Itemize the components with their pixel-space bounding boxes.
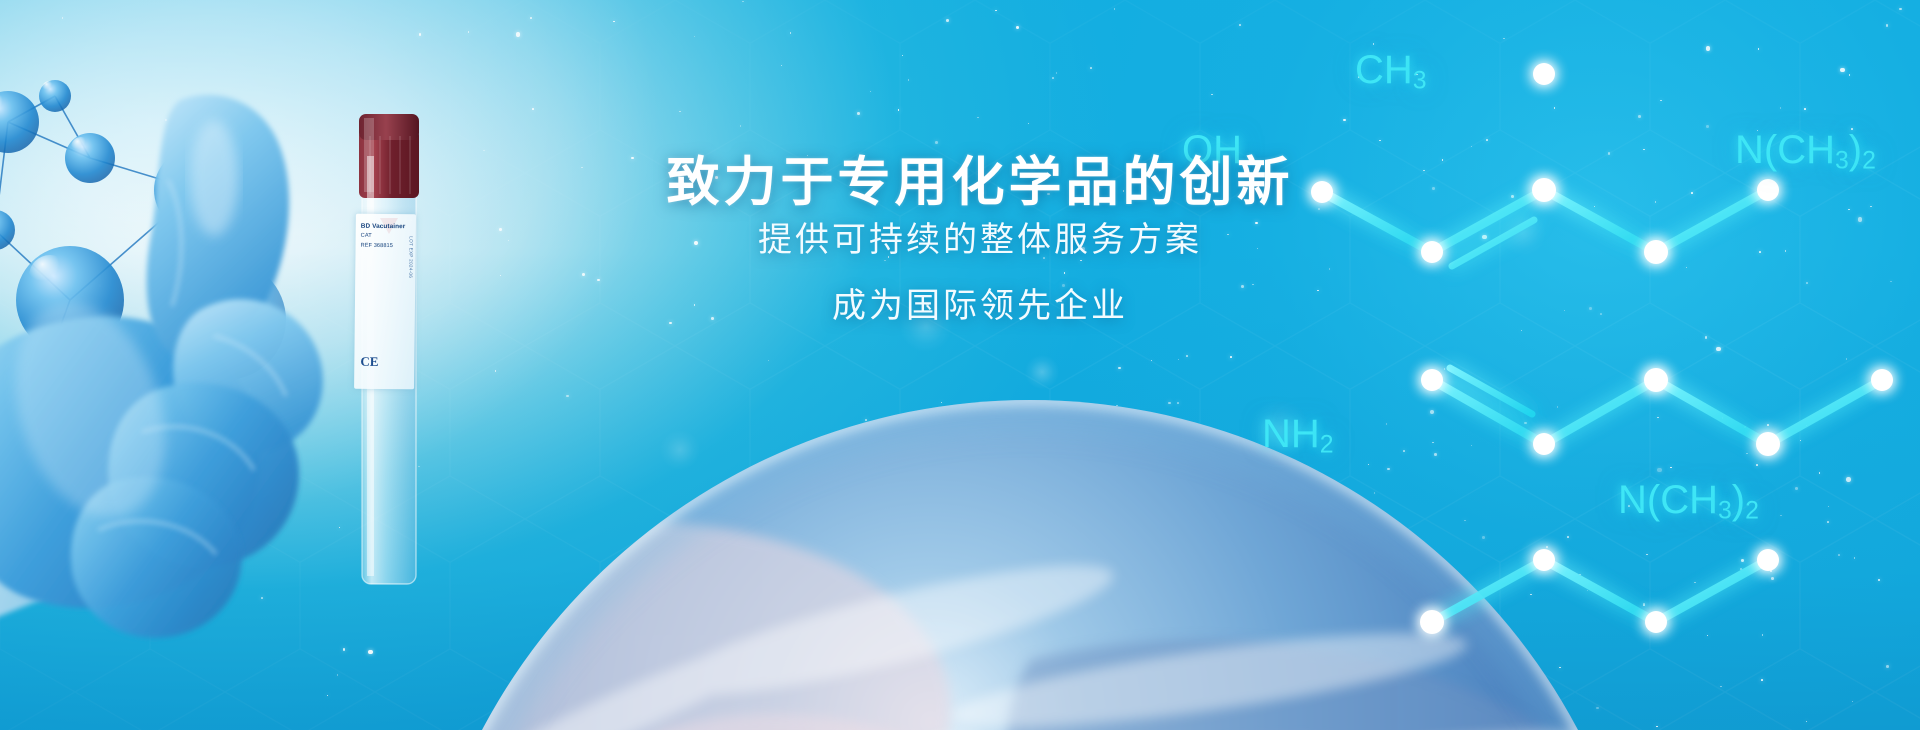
hydroxyl-group-label: OH xyxy=(1182,128,1242,173)
vial-brand: BD Vacutainer xyxy=(361,223,406,230)
vial-ref: REF 368815 xyxy=(361,243,393,249)
chemical-skeleton-diagram xyxy=(1170,0,1920,730)
vial-cat: CAT xyxy=(361,233,372,239)
vial-side-text: LOT EXP 2024-06 xyxy=(408,236,413,278)
dimethylamino-group-label-bottom: N(CH3)2 xyxy=(1618,478,1759,525)
methyl-group-label: CH3 xyxy=(1355,48,1427,95)
dimethylamino-group-label-right: N(CH3)2 xyxy=(1735,128,1876,175)
amine-group-label: NH2 xyxy=(1262,412,1334,459)
hero-banner: BD Vacutainer CAT REF 368815 LOT EXP 202… xyxy=(0,0,1920,730)
